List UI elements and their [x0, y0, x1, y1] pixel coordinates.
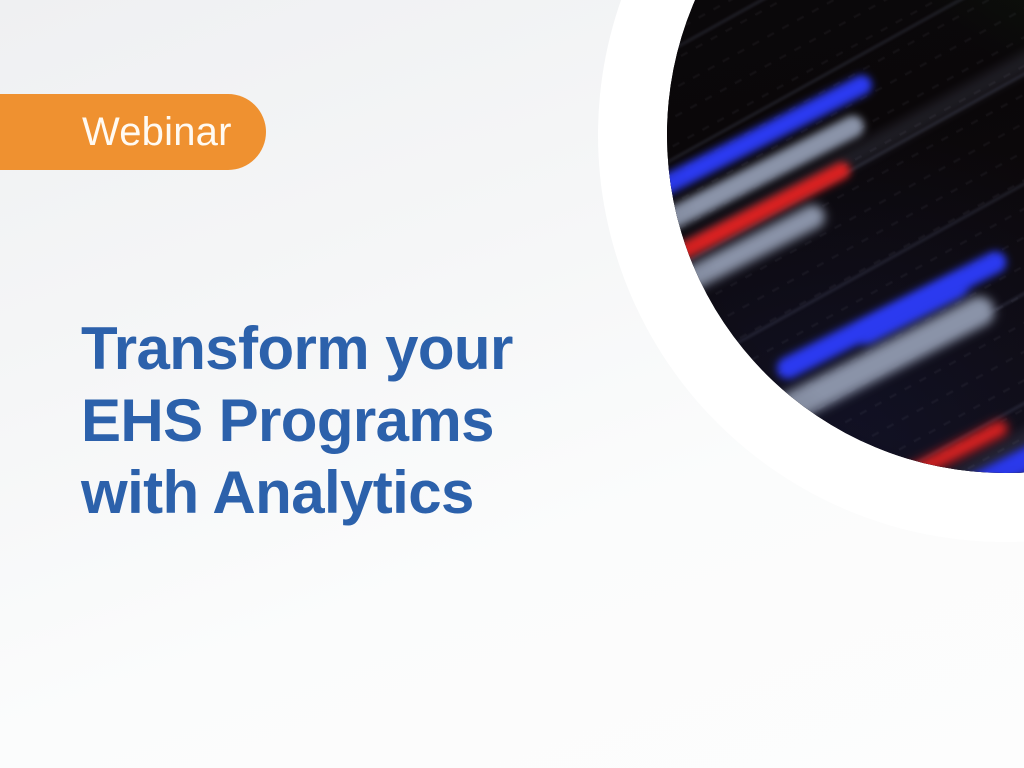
webinar-badge-label: Webinar [82, 112, 232, 152]
photo-vignette [667, 0, 1024, 473]
webinar-banner: Webinar Transform your EHS Programs with… [0, 0, 1024, 768]
page-title-line-1: Transform your [81, 313, 601, 385]
circular-photo-ring [598, 0, 1024, 542]
circular-photo [667, 0, 1024, 473]
webinar-badge: Webinar [0, 94, 266, 170]
page-title: Transform your EHS Programs with Analyti… [81, 313, 601, 529]
page-title-line-2: EHS Programs [81, 385, 601, 457]
page-title-line-3: with Analytics [81, 457, 601, 529]
chart-photo-artwork [667, 0, 1024, 473]
